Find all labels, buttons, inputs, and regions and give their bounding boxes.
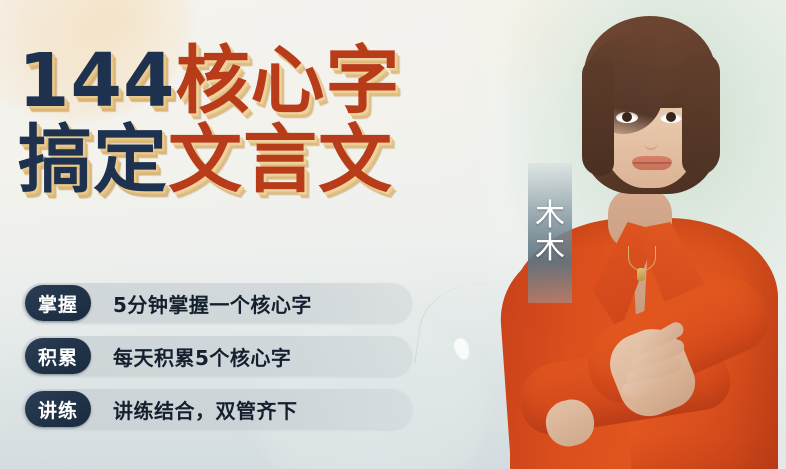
- headline-line-1-segment-navy: 144: [18, 40, 175, 122]
- feature-text-practice: 讲练结合，双管齐下: [113, 395, 298, 424]
- course-promo-poster: 木 木 144核心字 搞定文言文 掌握 5分钟掌握一个核心字 积累 每天积累5个…: [0, 0, 786, 469]
- portrait-hair-side-left: [582, 58, 614, 176]
- headline-line-2-segment-navy: 搞定: [18, 118, 168, 202]
- portrait-pupil-left: [622, 112, 632, 122]
- portrait-nose: [644, 128, 658, 150]
- name-banner-char-1: 木: [535, 201, 565, 232]
- feature-text-accumulation: 每天积累5个核心字: [113, 342, 291, 371]
- portrait-pendant: [637, 268, 645, 281]
- feature-row: 讲练 讲练结合，双管齐下: [22, 389, 412, 429]
- name-banner-char-2: 木: [535, 234, 565, 265]
- headline-line-1-segment-red: 核心字: [175, 40, 400, 122]
- feature-row: 积累 每天积累5个核心字: [22, 336, 412, 376]
- feature-badge-mastery: 掌握: [25, 285, 91, 321]
- portrait-pupil-right: [666, 112, 676, 122]
- portrait-hair-side-right: [682, 52, 720, 176]
- headline-line-1: 144核心字: [18, 40, 518, 122]
- feature-badge-practice: 讲练: [25, 391, 91, 427]
- portrait-lip-line: [633, 162, 671, 164]
- feature-row: 掌握 5分钟掌握一个核心字: [22, 283, 412, 323]
- headline-block: 144核心字 搞定文言文: [18, 40, 518, 202]
- headline-line-2: 搞定文言文: [18, 118, 518, 202]
- feature-text-mastery: 5分钟掌握一个核心字: [113, 289, 312, 318]
- instructor-name-banner: 木 木: [528, 163, 572, 303]
- headline-line-2-segment-red: 文言文: [168, 118, 393, 202]
- feature-list: 掌握 5分钟掌握一个核心字 积累 每天积累5个核心字 讲练 讲练结合，双管齐下: [22, 283, 412, 442]
- feature-badge-accumulation: 积累: [25, 338, 91, 374]
